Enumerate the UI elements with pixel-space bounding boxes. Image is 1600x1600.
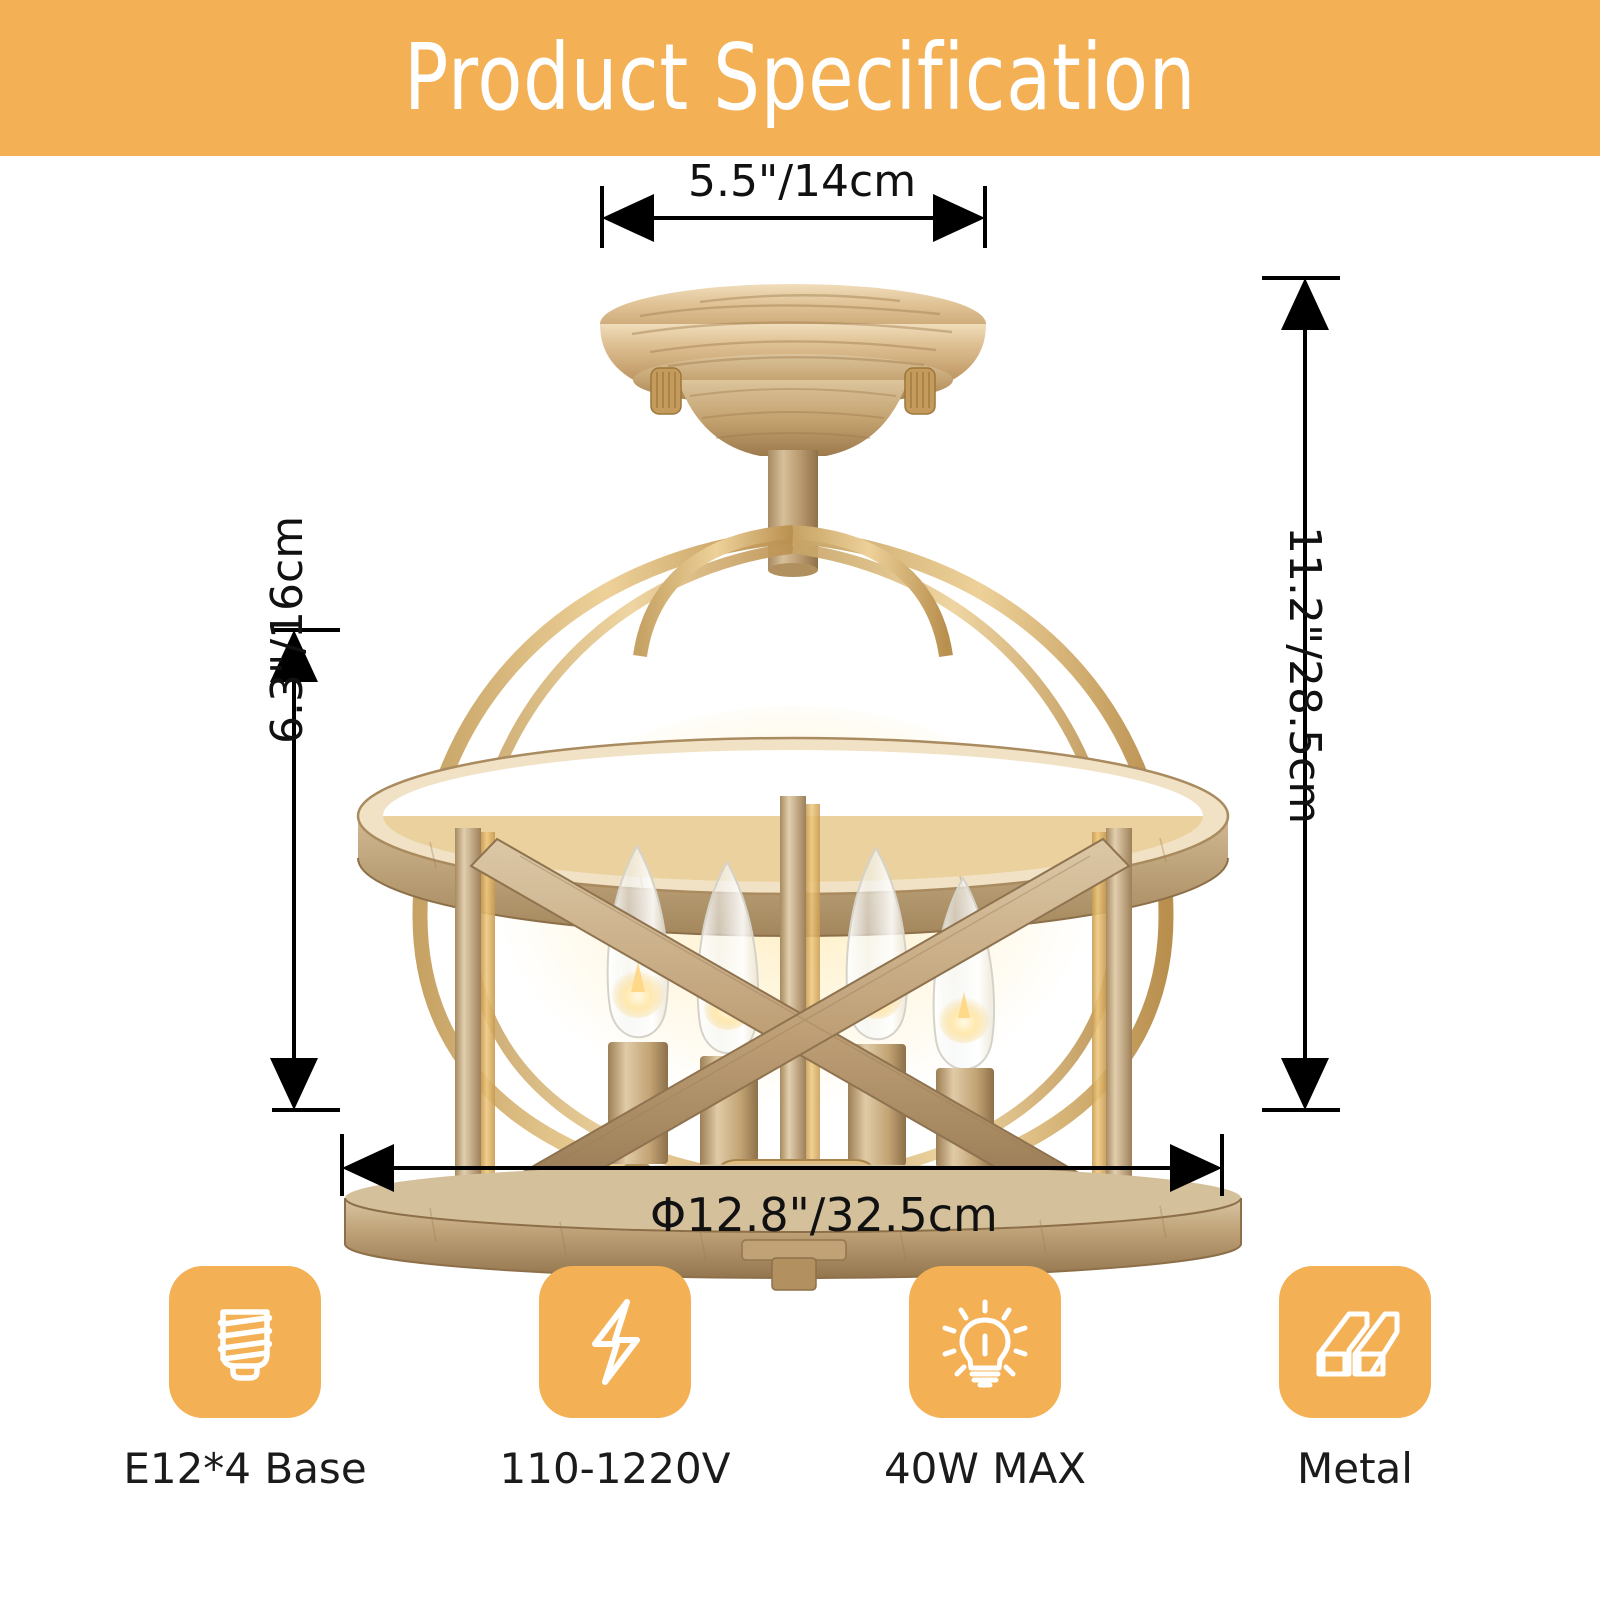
light-bulb-rays-icon: [935, 1292, 1035, 1392]
dimension-lines: [0, 156, 1600, 1266]
dim-label-canopy-width: 5.5"/14cm: [688, 156, 916, 207]
dim-bottom-diameter: [342, 1134, 1222, 1196]
feature-label-voltage: 110-1220V: [500, 1444, 731, 1493]
metal-tubes-icon: [1305, 1292, 1405, 1392]
feature-item-voltage: 110-1220V: [465, 1266, 765, 1493]
dim-label-overall-height: 11.2"/28.5cm: [1279, 526, 1330, 824]
metal-tubes-icon-tile: [1279, 1266, 1431, 1418]
bulb-socket-icon-tile: [169, 1266, 321, 1418]
header-band: Product Specification: [0, 0, 1600, 156]
dim-label-shade-height: 6.3"/16cm: [262, 516, 313, 744]
lightning-bolt-icon-tile: [539, 1266, 691, 1418]
feature-item-material: Metal: [1205, 1266, 1505, 1493]
feature-label-material: Metal: [1297, 1444, 1413, 1493]
lightning-bolt-icon: [565, 1292, 665, 1392]
product-spec-stage: 5.5"/14cm 11.2"/28.5cm 6.3"/16cm Φ12.8"/…: [0, 156, 1600, 1266]
dim-label-overall-diameter: Φ12.8"/32.5cm: [650, 1188, 998, 1242]
feature-row: E12*4 Base 110-1220V: [0, 1266, 1600, 1600]
page-title: Product Specification: [404, 32, 1196, 124]
feature-item-wattage: 40W MAX: [835, 1266, 1135, 1493]
bulb-socket-icon: [195, 1292, 295, 1392]
feature-label-wattage: 40W MAX: [884, 1444, 1086, 1493]
feature-item-base: E12*4 Base: [95, 1266, 395, 1493]
light-bulb-rays-icon-tile: [909, 1266, 1061, 1418]
feature-label-base: E12*4 Base: [123, 1444, 366, 1493]
